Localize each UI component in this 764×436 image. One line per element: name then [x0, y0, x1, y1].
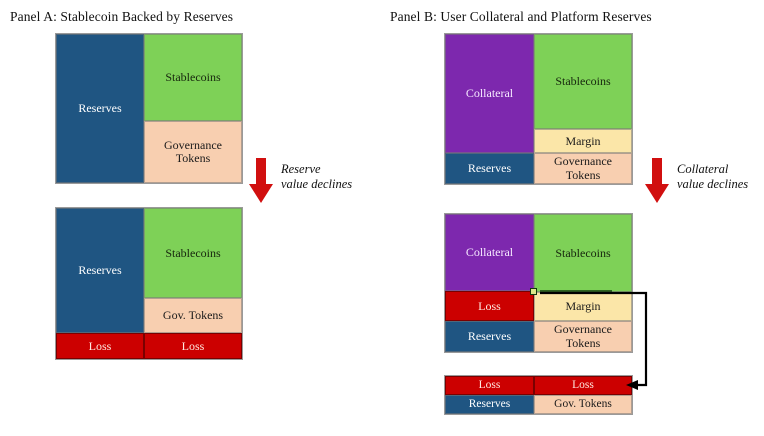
block-loss-left: Loss	[445, 376, 534, 395]
block-label: Reserves	[468, 162, 511, 175]
block-label-line2: Tokens	[566, 169, 601, 182]
block-label: Gov. Tokens	[163, 309, 223, 322]
block-label: Gov. Tokens	[554, 398, 612, 410]
block-label: Loss	[479, 379, 501, 391]
block-label: Loss	[478, 300, 501, 313]
connector-handle-icon	[530, 288, 537, 295]
panel-b-before-diagram: Collateral Reserves Stablecoins Margin G…	[444, 33, 633, 185]
block-reserves: Reserves	[445, 395, 534, 414]
panel-b-final-diagram: Loss Loss Reserves Gov. Tokens	[444, 375, 633, 415]
block-margin: Margin	[534, 129, 632, 153]
down-arrow-icon	[248, 158, 274, 204]
block-label: Reserves	[78, 264, 121, 277]
block-label-line1: Governance	[554, 323, 612, 336]
panel-a-before-diagram: Reserves Stablecoins Governance Tokens	[55, 33, 243, 184]
block-loss-right: Loss	[144, 333, 242, 359]
block-label: Margin	[565, 135, 600, 148]
block-gov-tokens: Gov. Tokens	[534, 395, 632, 414]
block-stablecoins: Stablecoins	[534, 34, 632, 129]
panel-b-transition-label: Collateral value declines	[677, 162, 748, 193]
block-label: Collateral	[466, 87, 513, 100]
block-reserves: Reserves	[56, 34, 144, 183]
block-label-line2: Tokens	[176, 152, 211, 165]
block-reserves: Reserves	[445, 321, 534, 352]
transition-label-line2: value declines	[677, 177, 748, 192]
block-governance-tokens: Governance Tokens	[534, 321, 632, 352]
block-collateral: Collateral	[445, 34, 534, 153]
down-arrow-icon	[644, 158, 670, 204]
block-label: Stablecoins	[555, 247, 610, 260]
block-label: Reserves	[469, 398, 511, 410]
block-stablecoins: Stablecoins	[534, 214, 632, 292]
block-loss-left: Loss	[56, 333, 144, 359]
block-label: Collateral	[466, 246, 513, 259]
block-label: Margin	[565, 300, 600, 313]
block-label-line1: Governance	[164, 139, 222, 152]
block-governance-tokens: Governance Tokens	[144, 121, 242, 183]
block-label: Stablecoins	[165, 71, 220, 84]
block-label: Stablecoins	[555, 75, 610, 88]
panel-b-after-diagram: Collateral Loss Reserves Stablecoins Mar…	[444, 213, 633, 353]
block-label: Reserves	[78, 102, 121, 115]
block-collateral: Collateral	[445, 214, 534, 291]
block-gov-tokens: Gov. Tokens	[144, 298, 242, 333]
block-governance-tokens: Governance Tokens	[534, 153, 632, 184]
panel-b-title: Panel B: User Collateral and Platform Re…	[390, 9, 652, 25]
block-loss-right: Loss	[534, 376, 632, 395]
panel-a-after-diagram: Reserves Loss Stablecoins Gov. Tokens Lo…	[55, 207, 243, 360]
panel-a-title: Panel A: Stablecoin Backed by Reserves	[10, 9, 233, 25]
block-label: Loss	[182, 340, 205, 353]
block-margin: Margin	[534, 292, 632, 321]
block-label-line2: Tokens	[566, 337, 601, 350]
block-stablecoins: Stablecoins	[144, 34, 242, 121]
block-reserves: Reserves	[56, 208, 144, 333]
panel-a-transition-label: Reserve value declines	[281, 162, 352, 193]
block-label-line1: Governance	[554, 155, 612, 168]
block-label: Loss	[89, 340, 112, 353]
transition-label-line1: Reserve	[281, 162, 352, 177]
block-label: Loss	[572, 379, 594, 391]
block-label: Reserves	[468, 330, 511, 343]
block-reserves: Reserves	[445, 153, 534, 184]
block-loss-left: Loss	[445, 291, 534, 321]
block-label: Stablecoins	[165, 247, 220, 260]
block-stablecoins: Stablecoins	[144, 208, 242, 298]
transition-label-line2: value declines	[281, 177, 352, 192]
transition-label-line1: Collateral	[677, 162, 748, 177]
